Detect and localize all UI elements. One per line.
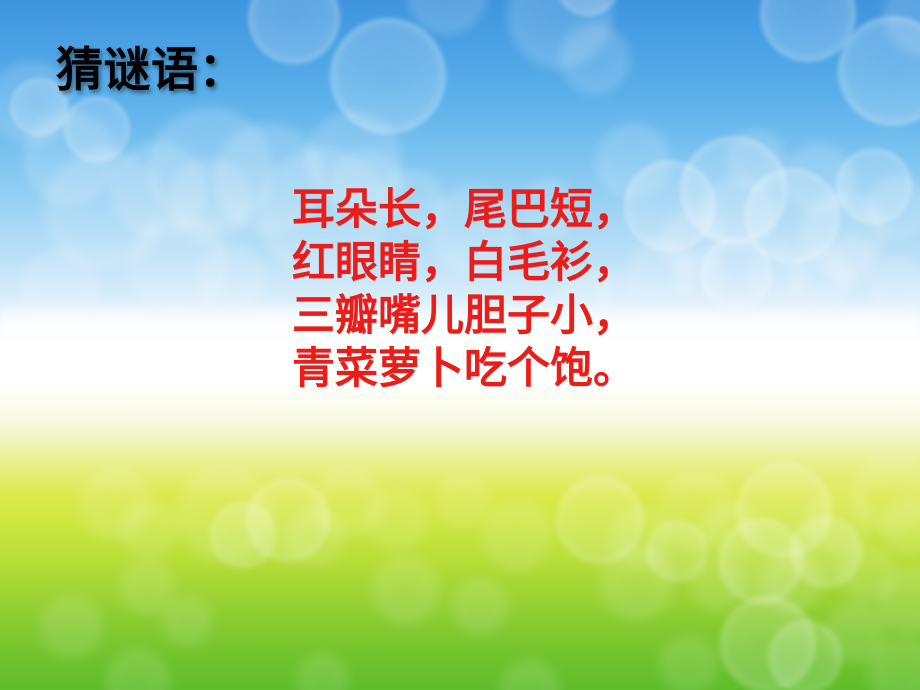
bokeh-circle-grass <box>436 474 490 528</box>
bokeh-circle-grass <box>372 556 440 624</box>
bokeh-circle-sky <box>560 24 630 94</box>
bokeh-circle-grass <box>40 596 102 658</box>
riddle-text-block: 耳朵长，尾巴短，红眼睛，白毛衫，三瓣嘴儿胆子小，青菜萝卜吃个饱。 <box>292 184 636 396</box>
bokeh-circle-grass <box>660 636 718 690</box>
bokeh-circle-grass <box>366 488 428 550</box>
slide-canvas: 猜谜语： 耳朵长，尾巴短，红眼睛，白毛衫，三瓣嘴儿胆子小，青菜萝卜吃个饱。 <box>0 0 920 690</box>
bokeh-circle-grass <box>452 578 508 634</box>
bokeh-circle-grass <box>500 660 560 690</box>
riddle-line: 三瓣嘴儿胆子小， <box>292 290 636 343</box>
riddle-line: 红眼睛，白毛衫， <box>292 237 636 290</box>
bokeh-circle-grass <box>162 596 212 646</box>
bokeh-circle-grass <box>296 654 348 690</box>
slide-title: 猜谜语： <box>56 44 246 99</box>
riddle-line: 耳朵长，尾巴短， <box>292 184 636 237</box>
bokeh-circle-grass <box>106 650 170 690</box>
bokeh-circle-grass <box>482 500 552 570</box>
riddle-line: 青菜萝卜吃个饱。 <box>292 343 636 396</box>
bokeh-circle-grass <box>120 500 178 558</box>
bokeh-circle-sky <box>248 0 340 64</box>
